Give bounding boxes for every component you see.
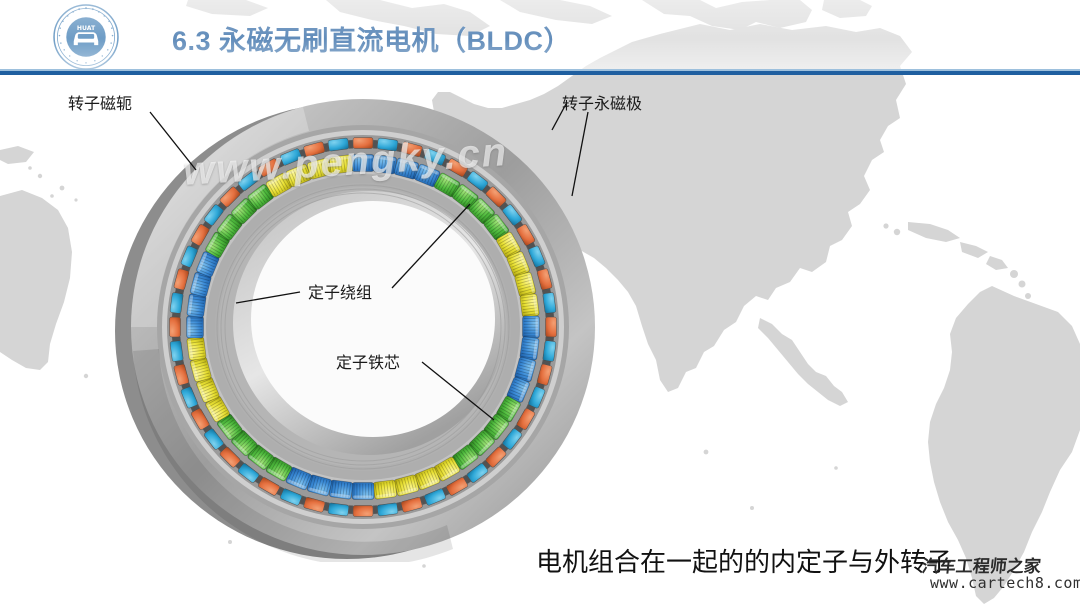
- stator-winding-coil: [352, 483, 374, 500]
- stator-winding-coil: [187, 336, 207, 360]
- rotor-magnet-segment: [328, 503, 349, 517]
- stator-winding-coil: [329, 155, 353, 175]
- rotor-tooth-gap: [373, 505, 378, 513]
- stator-winding-coil: [187, 316, 204, 338]
- rotor-magnet-segment: [353, 138, 373, 149]
- slide-canvas: HUAT 6.3 永磁无刷直流电机（BLDC）: [0, 0, 1080, 608]
- rotor-magnet-segment: [170, 340, 184, 361]
- rotor-magnet-segment: [328, 138, 349, 152]
- slide-caption: 电机组合在一起的的内定子与外转子: [536, 542, 952, 579]
- rotor-tooth-gap: [172, 337, 180, 342]
- callout-stator-winding: 定子绕组: [308, 279, 372, 303]
- stator-winding-coil: [520, 336, 540, 360]
- slide-header: [0, 0, 1080, 75]
- rotor-magnet-segment: [170, 292, 184, 313]
- callout-stator-core: 定子铁芯: [336, 349, 400, 373]
- rotor-tooth-gap: [545, 313, 553, 318]
- rotor-magnet-segment: [170, 317, 181, 337]
- rotor-tooth-gap: [349, 505, 354, 513]
- rotor-magnet-segment: [377, 503, 398, 517]
- rotor-magnet-segment: [546, 317, 557, 337]
- rotor-magnet-segment: [377, 138, 398, 152]
- rotor-magnet-segment: [353, 506, 373, 517]
- stator-winding-coil: [352, 155, 374, 172]
- bldc-motor-illustration: [108, 92, 628, 562]
- callout-rotor-magnet: 转子永磁极: [562, 90, 642, 114]
- stator-winding-coil: [520, 294, 540, 318]
- stator-winding-coil: [329, 480, 353, 500]
- callout-rotor-yoke: 转子磁轭: [68, 90, 132, 114]
- rotor-magnet-segment: [543, 292, 557, 313]
- stator-winding-coil: [373, 480, 397, 500]
- rotor-tooth-gap: [373, 140, 378, 148]
- rotor-tooth-gap: [349, 140, 354, 148]
- header-rule: [0, 71, 1080, 75]
- header-band: [0, 0, 1080, 70]
- site-watermark-url: www.cartech8.com: [930, 574, 1080, 592]
- stator-winding-coil: [523, 316, 540, 338]
- stator-winding-coil: [373, 155, 397, 175]
- rotor-magnet-segment: [543, 340, 557, 361]
- stator-winding-coil: [187, 294, 207, 318]
